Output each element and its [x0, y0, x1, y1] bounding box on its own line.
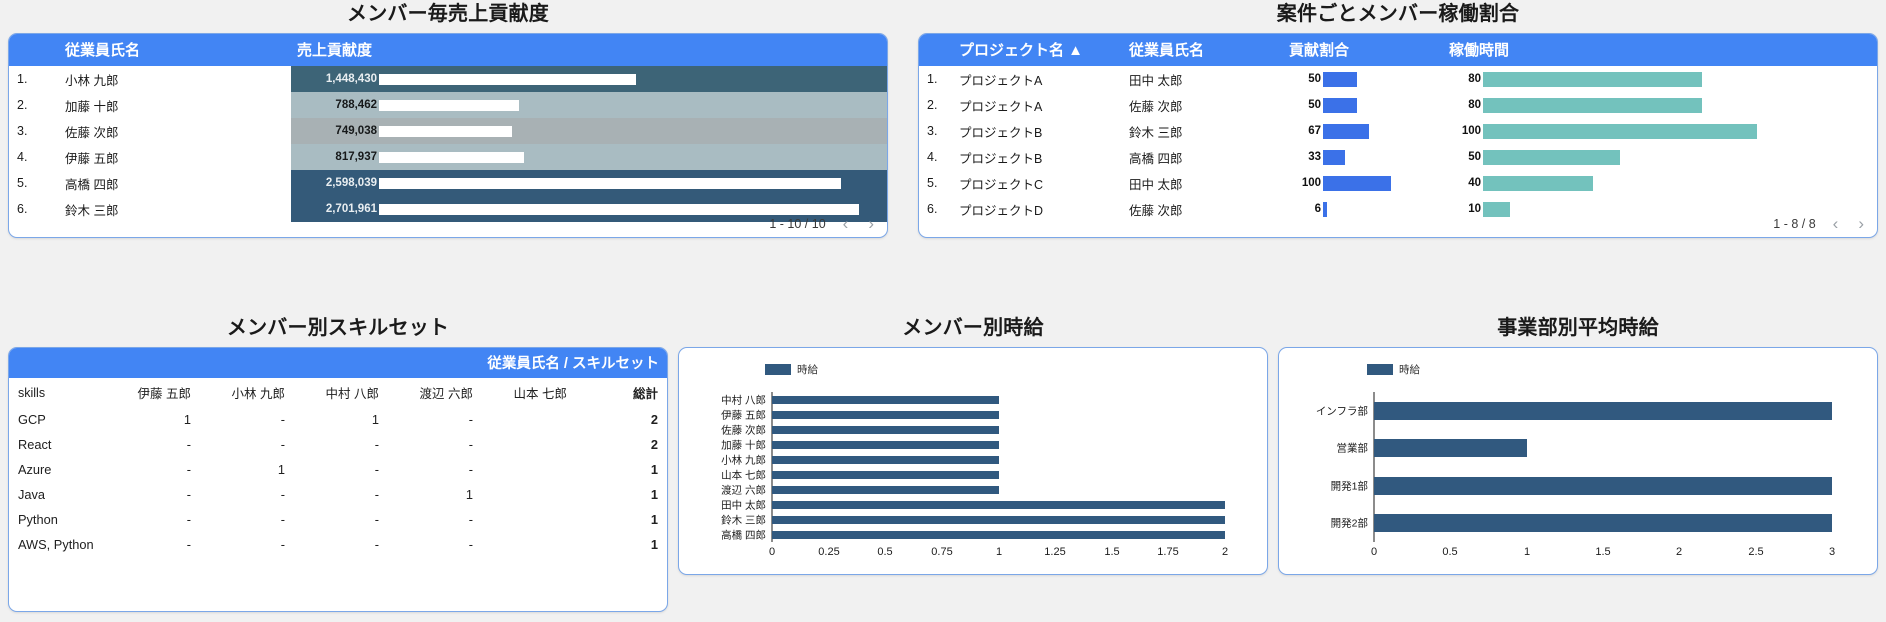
sales-value-cell: 1,448,430 — [291, 66, 887, 92]
ratio-bar — [1323, 202, 1327, 217]
skill-name-cell: AWS, Python — [9, 532, 103, 557]
table-row[interactable]: 3.佐藤 次郎749,038 — [9, 118, 887, 144]
table-row[interactable]: Python----1 — [9, 507, 667, 532]
chart-x-tick-label: 1.25 — [1044, 542, 1065, 558]
skill-name-cell: Python — [9, 507, 103, 532]
skill-count-cell: 1 — [291, 407, 385, 432]
sales-value-label: 2,701,961 — [291, 203, 379, 215]
employee-name-cell: 伊藤 五郎 — [41, 144, 291, 170]
dept-legend[interactable]: 時給 — [1367, 362, 1420, 377]
ratio-bar — [1323, 176, 1391, 191]
sales-table: 従業員氏名 売上貢献度 1.小林 九郎1,448,4302.加藤 十郎788,4… — [9, 34, 887, 222]
chart-category-label: 中村 八郎 — [721, 392, 771, 407]
hours-bar — [1483, 150, 1620, 165]
project-name-cell: プロジェクトB — [953, 144, 1123, 170]
project-name-cell: プロジェクトC — [953, 170, 1123, 196]
employee-name-cell: 佐藤 次郎 — [41, 118, 291, 144]
hours-label: 80 — [1443, 99, 1483, 111]
ratio-cell: 6 — [1283, 196, 1443, 222]
skill-count-cell: - — [291, 507, 385, 532]
hourly-legend[interactable]: 時給 — [765, 362, 818, 377]
row-index: 6. — [9, 196, 41, 222]
panel-title-skills: メンバー別スキルセット — [8, 318, 668, 338]
projects-col-name[interactable]: 従業員氏名 — [1123, 34, 1283, 66]
chart-x-tick-label: 0.75 — [931, 542, 952, 558]
skill-count-cell: - — [291, 482, 385, 507]
chart-bar — [772, 426, 999, 434]
sales-col-index — [9, 34, 41, 66]
sales-value-bar — [379, 204, 859, 215]
chart-x-tick-label: 1 — [1524, 542, 1530, 558]
table-row[interactable]: 1.プロジェクトA田中 太郎5080 — [919, 66, 1877, 92]
skill-name-cell: Azure — [9, 457, 103, 482]
ratio-label: 67 — [1283, 125, 1323, 137]
projects-pager: 1 - 8 / 8 ‹ › — [1773, 215, 1867, 232]
sales-value-cell: 2,598,039 — [291, 170, 887, 196]
ratio-cell: 67 — [1283, 118, 1443, 144]
row-index: 2. — [919, 92, 953, 118]
skill-count-cell: - — [103, 532, 197, 557]
hours-cell: 40 — [1443, 170, 1877, 196]
row-index: 5. — [9, 170, 41, 196]
skill-count-cell — [479, 432, 573, 457]
skill-count-cell: - — [291, 532, 385, 557]
skill-name-cell: Java — [9, 482, 103, 507]
sales-value-bar — [379, 100, 519, 111]
sales-value-bar — [379, 152, 524, 163]
skill-count-cell — [479, 407, 573, 432]
skill-total-cell: 1 — [573, 532, 667, 557]
skills-column-header[interactable]: skills — [9, 378, 103, 407]
skill-count-cell: - — [103, 482, 197, 507]
employee-name-cell: 田中 太郎 — [1123, 66, 1283, 92]
skill-count-cell: - — [291, 432, 385, 457]
projects-pager-range: 1 - 8 / 8 — [1773, 217, 1815, 231]
table-row[interactable]: 4.伊藤 五郎817,937 — [9, 144, 887, 170]
chart-bar — [1374, 477, 1832, 495]
employee-name-cell: 小林 九郎 — [41, 66, 291, 92]
hours-bar — [1483, 98, 1702, 113]
sales-pager-next-icon[interactable]: › — [865, 215, 877, 232]
hours-bar — [1483, 124, 1757, 139]
table-row[interactable]: 2.加藤 十郎788,462 — [9, 92, 887, 118]
chart-category-label: 開発1部 — [1331, 478, 1373, 493]
projects-col-hours[interactable]: 稼働時間 — [1443, 34, 1877, 66]
chart-x-tick-label: 3 — [1829, 542, 1835, 558]
sales-value-label: 749,038 — [291, 125, 379, 137]
dept-plot-area: インフラ部営業部開発1部開発2部00.511.522.53 — [1373, 392, 1833, 542]
chart-x-tick-label: 2 — [1676, 542, 1682, 558]
hours-label: 80 — [1443, 73, 1483, 85]
sales-header-row: 従業員氏名 売上貢献度 — [9, 34, 887, 66]
hours-bar — [1483, 72, 1702, 87]
sales-col-name[interactable]: 従業員氏名 — [41, 34, 291, 66]
skill-count-cell: 1 — [385, 482, 479, 507]
skill-total-cell: 1 — [573, 507, 667, 532]
chart-x-tick-label: 0.5 — [1442, 542, 1457, 558]
ratio-bar — [1323, 124, 1369, 139]
ratio-cell: 50 — [1283, 66, 1443, 92]
sales-value-cell: 817,937 — [291, 144, 887, 170]
chart-category-label: 伊藤 五郎 — [721, 407, 771, 422]
chart-category-label: 小林 九郎 — [721, 452, 771, 467]
card-sales-contribution: 従業員氏名 売上貢献度 1.小林 九郎1,448,4302.加藤 十郎788,4… — [8, 33, 888, 238]
skill-count-cell: - — [103, 432, 197, 457]
skills-column-header-row: skills伊藤 五郎小林 九郎中村 八郎渡辺 六郎山本 七郎総計 — [9, 378, 667, 407]
ratio-bar — [1323, 72, 1357, 87]
skill-count-cell: - — [197, 507, 291, 532]
chart-x-tick-label: 1 — [996, 542, 1002, 558]
table-row[interactable]: 6.プロジェクトD佐藤 次郎610 — [919, 196, 1877, 222]
skills-table-body: skills伊藤 五郎小林 九郎中村 八郎渡辺 六郎山本 七郎総計 GCP1-1… — [9, 378, 667, 557]
skills-column-header[interactable]: 山本 七郎 — [479, 378, 573, 407]
skills-banner-row: 従業員氏名 / スキルセット — [9, 348, 667, 378]
skill-name-cell: React — [9, 432, 103, 457]
employee-name-cell: 加藤 十郎 — [41, 92, 291, 118]
hourly-legend-swatch-icon — [765, 364, 791, 375]
chart-bar — [772, 486, 999, 494]
chart-x-tick-label: 2 — [1222, 542, 1228, 558]
employee-name-cell: 佐藤 次郎 — [1123, 92, 1283, 118]
employee-name-cell: 佐藤 次郎 — [1123, 196, 1283, 222]
skill-count-cell: - — [197, 532, 291, 557]
panel-title-dept: 事業部別平均時給 — [1278, 318, 1878, 338]
sales-value-bar — [379, 178, 841, 189]
chart-bar — [772, 501, 1225, 509]
skill-count-cell — [479, 507, 573, 532]
row-index: 2. — [9, 92, 41, 118]
projects-table: プロジェクト名 ▲ 従業員氏名 貢献割合 稼働時間 1.プロジェクトA田中 太郎… — [919, 34, 1877, 222]
sales-pager-range: 1 - 10 / 10 — [769, 217, 825, 231]
table-row[interactable]: 5.高橋 四郎2,598,039 — [9, 170, 887, 196]
card-hourly-wage: 時給 中村 八郎伊藤 五郎佐藤 次郎加藤 十郎小林 九郎山本 七郎渡辺 六郎田中… — [678, 347, 1268, 575]
table-row[interactable]: 5.プロジェクトC田中 太郎10040 — [919, 170, 1877, 196]
sales-value-label: 2,598,039 — [291, 177, 379, 189]
hours-label: 10 — [1443, 203, 1483, 215]
sales-value-label: 1,448,430 — [291, 73, 379, 85]
projects-table-body: 1.プロジェクトA田中 太郎50802.プロジェクトA佐藤 次郎50803.プロ… — [919, 66, 1877, 222]
project-name-cell: プロジェクトD — [953, 196, 1123, 222]
skill-count-cell: - — [103, 507, 197, 532]
sales-pager: 1 - 10 / 10 ‹ › — [769, 215, 877, 232]
chart-category-label: 佐藤 次郎 — [721, 422, 771, 437]
chart-bar — [772, 516, 1225, 524]
hours-cell: 100 — [1443, 118, 1877, 144]
skills-banner: 従業員氏名 / スキルセット — [9, 348, 667, 378]
chart-category-label: インフラ部 — [1316, 403, 1373, 418]
chart-category-label: 田中 太郎 — [721, 497, 771, 512]
ratio-label: 50 — [1283, 73, 1323, 85]
table-row[interactable]: React----2 — [9, 432, 667, 457]
employee-name-cell: 田中 太郎 — [1123, 170, 1283, 196]
row-index: 6. — [919, 196, 953, 222]
panel-hourly-wage: メンバー別時給 時給 中村 八郎伊藤 五郎佐藤 次郎加藤 十郎小林 九郎山本 七… — [678, 318, 1268, 575]
chart-category-label: 渡辺 六郎 — [721, 482, 771, 497]
skill-count-cell: - — [197, 407, 291, 432]
panel-title-projects: 案件ごとメンバー稼働割合 — [918, 4, 1878, 24]
skill-count-cell: - — [103, 457, 197, 482]
sales-pager-prev-icon[interactable]: ‹ — [840, 215, 852, 232]
projects-pager-prev-icon[interactable]: ‹ — [1830, 215, 1842, 232]
table-row[interactable]: 6.鈴木 三郎2,701,961 — [9, 196, 887, 222]
skill-total-cell: 1 — [573, 482, 667, 507]
table-row[interactable]: 4.プロジェクトB高橋 四郎3350 — [919, 144, 1877, 170]
chart-bar — [772, 531, 1225, 539]
row-index: 5. — [919, 170, 953, 196]
skill-total-cell: 1 — [573, 457, 667, 482]
chart-bar — [772, 396, 999, 404]
ratio-label: 100 — [1283, 177, 1323, 189]
project-name-cell: プロジェクトA — [953, 92, 1123, 118]
dept-legend-label: 時給 — [1399, 362, 1420, 377]
projects-col-project[interactable]: プロジェクト名 ▲ — [953, 34, 1123, 66]
row-index: 4. — [919, 144, 953, 170]
skills-column-header[interactable]: 小林 九郎 — [197, 378, 291, 407]
row-index: 1. — [919, 66, 953, 92]
sales-value-cell: 749,038 — [291, 118, 887, 144]
projects-col-index — [919, 34, 953, 66]
panel-title-sales: メンバー毎売上貢献度 — [8, 4, 888, 24]
chart-bar — [772, 471, 999, 479]
hours-label: 40 — [1443, 177, 1483, 189]
chart-category-label: 鈴木 三郎 — [721, 512, 771, 527]
table-row[interactable]: Azure-1--1 — [9, 457, 667, 482]
dept-chart: 時給 インフラ部営業部開発1部開発2部00.511.522.53 — [1279, 348, 1877, 574]
skill-count-cell: 1 — [197, 457, 291, 482]
hours-bar — [1483, 176, 1593, 191]
skills-column-header[interactable]: 総計 — [573, 378, 667, 407]
projects-pager-next-icon[interactable]: › — [1855, 215, 1867, 232]
chart-bar — [1374, 439, 1527, 457]
ratio-bar — [1323, 98, 1357, 113]
sales-value-label: 788,462 — [291, 99, 379, 111]
projects-col-ratio[interactable]: 貢献割合 — [1283, 34, 1443, 66]
dashboard: メンバー毎売上貢献度 従業員氏名 売上貢献度 1.小林 九郎1,448,4302… — [0, 0, 1886, 622]
skill-count-cell: - — [385, 507, 479, 532]
skill-total-cell: 2 — [573, 407, 667, 432]
panel-sales-contribution: メンバー毎売上貢献度 従業員氏名 売上貢献度 1.小林 九郎1,448,4302… — [8, 4, 888, 238]
employee-name-cell: 高橋 四郎 — [1123, 144, 1283, 170]
skill-count-cell — [479, 482, 573, 507]
hourly-plot-area: 中村 八郎伊藤 五郎佐藤 次郎加藤 十郎小林 九郎山本 七郎渡辺 六郎田中 太郎… — [771, 392, 1226, 542]
chart-x-tick-label: 0.5 — [877, 542, 892, 558]
skill-count-cell: - — [197, 482, 291, 507]
skills-table-head: 従業員氏名 / スキルセット — [9, 348, 667, 378]
hourly-legend-label: 時給 — [797, 362, 818, 377]
card-skillset: 従業員氏名 / スキルセット skills伊藤 五郎小林 九郎中村 八郎渡辺 六… — [8, 347, 668, 612]
hourly-chart: 時給 中村 八郎伊藤 五郎佐藤 次郎加藤 十郎小林 九郎山本 七郎渡辺 六郎田中… — [679, 348, 1267, 574]
hours-label: 50 — [1443, 151, 1483, 163]
sales-value-bar — [379, 126, 512, 137]
chart-x-tick-label: 0.25 — [818, 542, 839, 558]
ratio-cell: 33 — [1283, 144, 1443, 170]
skill-count-cell: - — [291, 457, 385, 482]
sales-table-head: 従業員氏名 売上貢献度 — [9, 34, 887, 66]
skill-count-cell: - — [385, 457, 479, 482]
panel-dept-average: 事業部別平均時給 時給 インフラ部営業部開発1部開発2部00.511.522.5… — [1278, 318, 1878, 575]
table-row[interactable]: 1.小林 九郎1,448,430 — [9, 66, 887, 92]
row-index: 1. — [9, 66, 41, 92]
ratio-cell: 50 — [1283, 92, 1443, 118]
row-index: 3. — [919, 118, 953, 144]
employee-name-cell: 鈴木 三郎 — [41, 196, 291, 222]
hours-cell: 80 — [1443, 92, 1877, 118]
skill-count-cell: 1 — [103, 407, 197, 432]
row-index: 3. — [9, 118, 41, 144]
projects-header-row: プロジェクト名 ▲ 従業員氏名 貢献割合 稼働時間 — [919, 34, 1877, 66]
chart-x-tick-label: 1.75 — [1157, 542, 1178, 558]
panel-skillset: メンバー別スキルセット 従業員氏名 / スキルセット skills伊藤 五郎小林… — [8, 318, 668, 612]
chart-category-label: 営業部 — [1337, 441, 1374, 456]
sales-value-bar — [379, 74, 636, 85]
panel-project-utilization: 案件ごとメンバー稼働割合 プロジェクト名 ▲ 従業員氏名 貢献割合 稼働時間 1… — [918, 4, 1878, 238]
chart-category-label: 山本 七郎 — [721, 467, 771, 482]
hours-bar — [1483, 202, 1510, 217]
chart-category-label: 高橋 四郎 — [721, 527, 771, 542]
chart-bar — [1374, 514, 1832, 532]
sales-table-body: 1.小林 九郎1,448,4302.加藤 十郎788,4623.佐藤 次郎749… — [9, 66, 887, 222]
chart-x-tick-label: 0 — [769, 542, 775, 558]
hours-cell: 80 — [1443, 66, 1877, 92]
chart-x-tick-label: 1.5 — [1104, 542, 1119, 558]
chart-category-label: 加藤 十郎 — [721, 437, 771, 452]
row-index: 4. — [9, 144, 41, 170]
chart-bar — [772, 456, 999, 464]
skills-column-header[interactable]: 渡辺 六郎 — [385, 378, 479, 407]
projects-table-head: プロジェクト名 ▲ 従業員氏名 貢献割合 稼働時間 — [919, 34, 1877, 66]
skill-total-cell: 2 — [573, 432, 667, 457]
card-dept-average: 時給 インフラ部営業部開発1部開発2部00.511.522.53 — [1278, 347, 1878, 575]
chart-bar — [772, 441, 999, 449]
sales-value-label: 817,937 — [291, 151, 379, 163]
skills-column-header[interactable]: 中村 八郎 — [291, 378, 385, 407]
dept-legend-swatch-icon — [1367, 364, 1393, 375]
card-project-utilization: プロジェクト名 ▲ 従業員氏名 貢献割合 稼働時間 1.プロジェクトA田中 太郎… — [918, 33, 1878, 238]
table-row[interactable]: Java---11 — [9, 482, 667, 507]
panel-title-hourly: メンバー別時給 — [678, 318, 1268, 338]
hours-cell: 50 — [1443, 144, 1877, 170]
skill-count-cell — [479, 457, 573, 482]
table-row[interactable]: GCP1-1-2 — [9, 407, 667, 432]
ratio-label: 50 — [1283, 99, 1323, 111]
skill-count-cell: - — [385, 407, 479, 432]
skill-count-cell — [479, 532, 573, 557]
chart-category-label: 開発2部 — [1331, 516, 1373, 531]
project-name-cell: プロジェクトB — [953, 118, 1123, 144]
sales-col-value[interactable]: 売上貢献度 — [291, 34, 887, 66]
employee-name-cell: 高橋 四郎 — [41, 170, 291, 196]
skill-count-cell: - — [197, 432, 291, 457]
ratio-label: 33 — [1283, 151, 1323, 163]
table-row[interactable]: 3.プロジェクトB鈴木 三郎67100 — [919, 118, 1877, 144]
table-row[interactable]: 2.プロジェクトA佐藤 次郎5080 — [919, 92, 1877, 118]
skill-name-cell: GCP — [9, 407, 103, 432]
skills-column-header[interactable]: 伊藤 五郎 — [103, 378, 197, 407]
chart-x-tick-label: 2.5 — [1748, 542, 1763, 558]
skills-table: 従業員氏名 / スキルセット skills伊藤 五郎小林 九郎中村 八郎渡辺 六… — [9, 348, 667, 557]
table-row[interactable]: AWS, Python----1 — [9, 532, 667, 557]
ratio-cell: 100 — [1283, 170, 1443, 196]
ratio-label: 6 — [1283, 203, 1323, 215]
chart-bar — [1374, 402, 1832, 420]
sales-value-cell: 788,462 — [291, 92, 887, 118]
skill-count-cell: - — [385, 432, 479, 457]
chart-x-tick-label: 0 — [1371, 542, 1377, 558]
chart-x-tick-label: 1.5 — [1595, 542, 1610, 558]
project-name-cell: プロジェクトA — [953, 66, 1123, 92]
skill-count-cell: - — [385, 532, 479, 557]
ratio-bar — [1323, 150, 1345, 165]
employee-name-cell: 鈴木 三郎 — [1123, 118, 1283, 144]
hours-label: 100 — [1443, 125, 1483, 137]
chart-bar — [772, 411, 999, 419]
